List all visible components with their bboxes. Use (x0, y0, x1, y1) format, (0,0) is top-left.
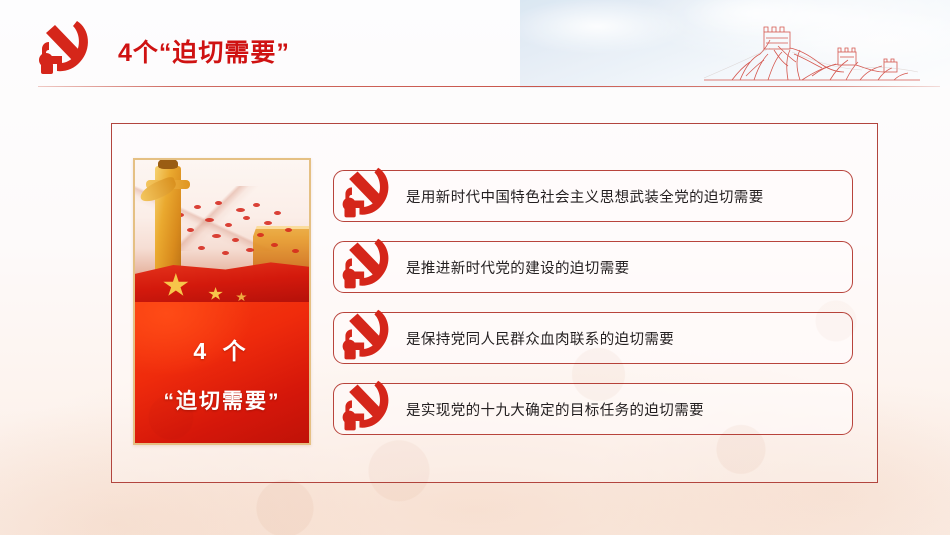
list-item-label: 是实现党的十九大确定的目标任务的迫切需要 (406, 383, 704, 435)
party-emblem-hammer-sickle-icon (33, 19, 95, 77)
slide-header: 4个“迫切需要” (0, 0, 950, 88)
list-item[interactable]: 是推进新时代党的建设的迫切需要 (333, 241, 853, 293)
header-divider (38, 86, 940, 87)
card-count-text: 4 个 (193, 332, 250, 366)
party-emblem-hammer-sickle-icon (337, 164, 395, 222)
page-title: 4个“迫切需要” (118, 33, 290, 69)
huabiao-pillar-red-flag-tiananmen-photo (135, 160, 309, 302)
list-item[interactable]: 是实现党的十九大确定的目标任务的迫切需要 (333, 383, 853, 435)
party-emblem-hammer-sickle-icon (337, 306, 395, 364)
great-wall-line-art-icon (702, 10, 922, 88)
party-emblem-hammer-sickle-icon (337, 235, 395, 293)
list-item-label: 是推进新时代党的建设的迫切需要 (406, 241, 630, 293)
list-item-label: 是用新时代中国特色社会主义思想武装全党的迫切需要 (406, 170, 764, 222)
needs-list: 是用新时代中国特色社会主义思想武装全党的迫切需要 是推进新时代党的建设的迫切需要 (333, 170, 853, 436)
summary-card-label: 4 个 “迫切需要” (135, 302, 309, 445)
huabiao-cloud-wing (137, 175, 178, 204)
card-phrase-text: “迫切需要” (164, 385, 281, 415)
slide-canvas: 4个“迫切需要” (0, 0, 950, 535)
summary-card: 4 个 “迫切需要” (133, 158, 311, 445)
list-item[interactable]: 是用新时代中国特色社会主义思想武装全党的迫切需要 (333, 170, 853, 222)
list-item[interactable]: 是保持党同人民群众血肉联系的迫切需要 (333, 312, 853, 364)
list-item-label: 是保持党同人民群众血肉联系的迫切需要 (406, 312, 674, 364)
party-emblem-hammer-sickle-icon (337, 377, 395, 435)
